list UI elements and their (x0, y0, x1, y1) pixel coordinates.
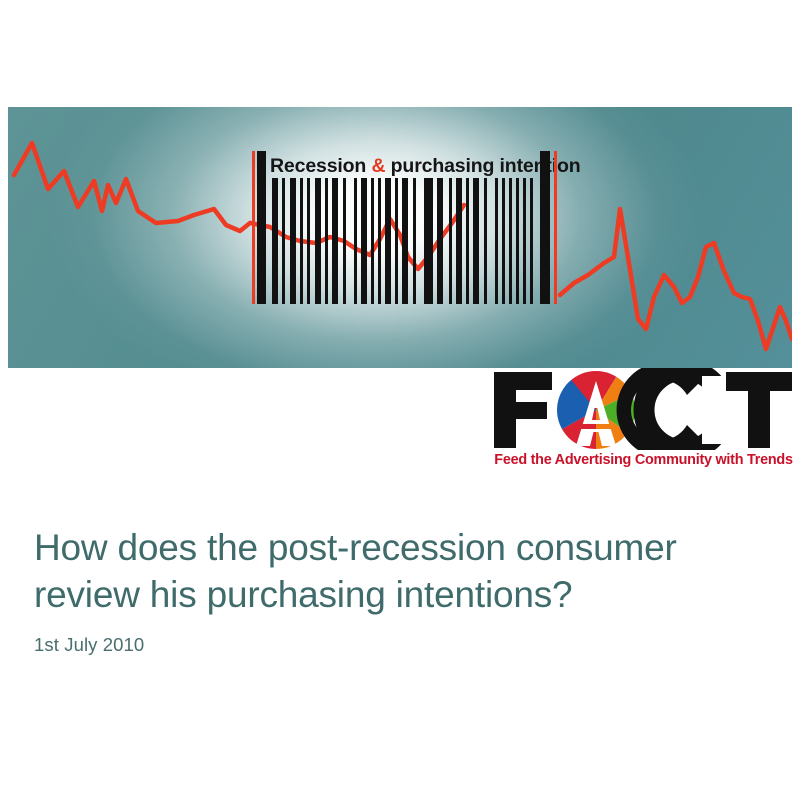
deck-date: 1st July 2010 (34, 634, 764, 656)
barcode-caption: Recession & purchasing intention (270, 151, 542, 181)
barcode-bar (502, 178, 505, 304)
barcode-bars (250, 178, 562, 304)
fact-letter-c (617, 368, 736, 450)
fact-letter-f (494, 372, 552, 448)
barcode-caption-tail: purchasing intention (385, 155, 580, 177)
barcode-bar (530, 178, 533, 304)
barcode-bar (437, 178, 443, 304)
barcode-bar (402, 178, 408, 304)
barcode-bar (424, 178, 433, 304)
barcode-bar (509, 178, 512, 304)
barcode-bar (495, 178, 498, 304)
barcode-bar (361, 178, 367, 304)
barcode-right-edge-bar (540, 151, 550, 304)
barcode-bar (484, 178, 487, 304)
barcode-bar (300, 178, 303, 304)
barcode-bar (290, 178, 296, 304)
barcode-bar (523, 178, 526, 304)
barcode-bar (315, 178, 321, 304)
barcode-left-red-line (252, 151, 255, 304)
barcode-left-edge-bar (257, 151, 266, 304)
trend-line-right (560, 209, 714, 329)
barcode-bar (385, 178, 391, 304)
barcode-bar (516, 178, 519, 304)
barcode-bar (325, 178, 328, 304)
barcode-bar (413, 178, 416, 304)
barcode-bar (371, 178, 374, 304)
trend-line-right-continued (714, 243, 792, 349)
fact-tagline: Feed the Advertising Community with Tren… (492, 452, 795, 468)
barcode-bar (473, 178, 479, 304)
barcode-bar (307, 178, 310, 304)
barcode-graphic: Recession & purchasing intention (250, 151, 562, 304)
barcode-bar (456, 178, 462, 304)
page-title: How does the post-recession consumer rev… (34, 524, 764, 618)
barcode-right-red-line (554, 151, 557, 304)
barcode-bar (395, 178, 398, 304)
trend-line-left (14, 143, 250, 231)
barcode-caption-lead: Recession (270, 155, 371, 177)
fact-logo: Feed the Advertising Community with Tren… (490, 368, 795, 480)
barcode-bar (343, 178, 346, 304)
barcode-caption-ampersand: & (371, 155, 385, 177)
hero-banner: Recession & purchasing intention (8, 107, 792, 368)
barcode-bar (378, 178, 381, 304)
fact-wordmark (490, 368, 795, 450)
barcode-bar (466, 178, 469, 304)
barcode-bar (332, 178, 338, 304)
barcode-bar (354, 178, 357, 304)
title-block: How does the post-recession consumer rev… (34, 524, 764, 656)
barcode-bar (282, 178, 285, 304)
barcode-bar (449, 178, 452, 304)
barcode-bar (272, 178, 278, 304)
